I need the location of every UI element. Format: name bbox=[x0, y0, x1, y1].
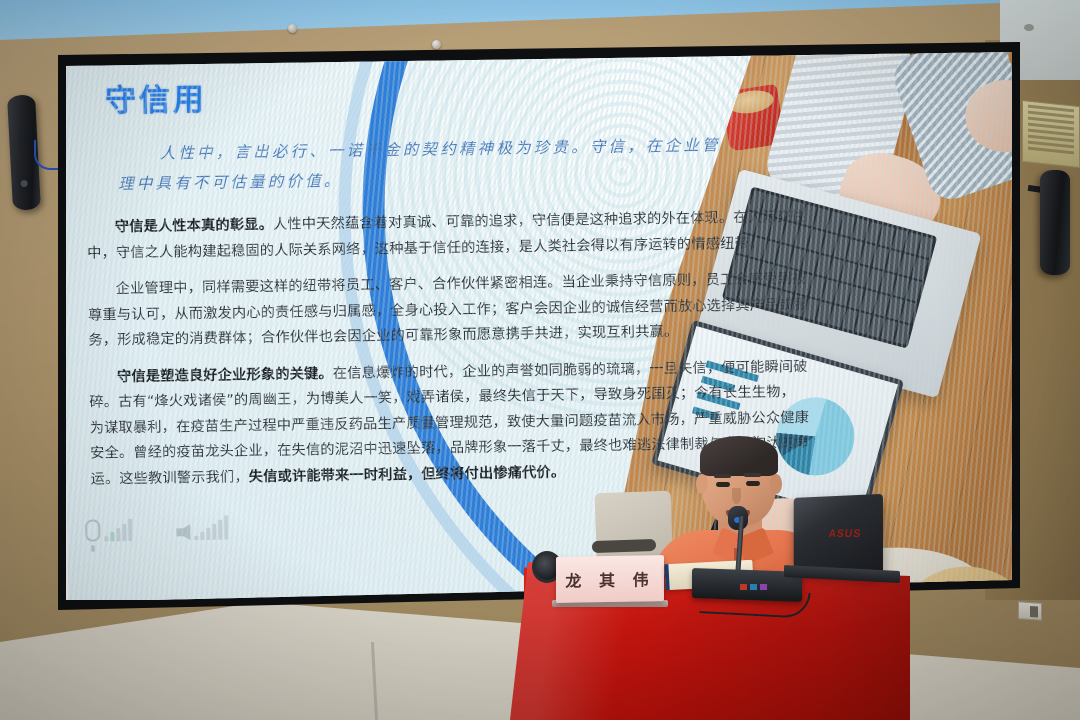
slide-title: 守信用 bbox=[105, 74, 208, 121]
laptop-lid: ASUS bbox=[794, 494, 883, 574]
presenter-ear-right bbox=[770, 474, 782, 494]
nameplate-text: 龙 其 伟 bbox=[565, 566, 654, 592]
presenter-nose bbox=[732, 488, 741, 504]
stud-icon bbox=[288, 24, 297, 33]
speaker-level-group bbox=[176, 516, 228, 541]
slide-paragraph-1: 守信是人性本真的彰显。人性中天然蕴含着对真诚、可靠的追求，守信便是这种追求的外在… bbox=[87, 205, 808, 267]
speaker-icon bbox=[176, 524, 190, 540]
asus-laptop[interactable]: ASUS bbox=[788, 496, 898, 588]
slide-footer-icons bbox=[85, 516, 228, 542]
sound-wave-icon bbox=[194, 516, 228, 541]
paragraph-3-tail: 失信或许能带来一时利益，但终将付出惨痛代价。 bbox=[249, 464, 566, 485]
nameplate: 龙 其 伟 bbox=[556, 555, 664, 603]
signal-bars-icon bbox=[104, 517, 132, 541]
power-outlet-icon bbox=[1018, 601, 1042, 621]
presenter-eyebrow-left bbox=[714, 474, 731, 478]
presentation-room-scene: 守信用 人性中，言出必行、一诺千金的契约精神极为珍贵。守信，在企业管理中具有不可… bbox=[0, 0, 1080, 720]
laptop-brand-logo: ASUS bbox=[828, 528, 862, 540]
paragraph-1-text: 人性中天然蕴含着对真诚、可靠的追求，守信便是这种追求的外在体现。在人际交往中，守… bbox=[87, 209, 805, 261]
presenter-eye-left bbox=[716, 482, 730, 487]
presenter-eye-right bbox=[746, 481, 760, 486]
presenter-ear-left bbox=[696, 474, 708, 494]
wall-speaker-right-icon bbox=[1040, 170, 1070, 275]
slide-paragraph-2: 企业管理中，同样需要这样的纽带将员工、客户、合作伙伴紧密相连。当企业秉持守信原则… bbox=[88, 267, 809, 354]
slide-subtitle: 人性中，言出必行、一诺千金的契约精神极为珍贵。守信，在企业管理中具有不可估量的价… bbox=[117, 130, 730, 199]
presenter-eyebrow-right bbox=[744, 473, 761, 477]
microphone-icon bbox=[85, 519, 100, 541]
paragraph-1-lead: 守信是人性本真的彰显。 bbox=[115, 217, 273, 235]
presenter-hair bbox=[700, 436, 778, 476]
chair-armrest bbox=[592, 539, 656, 553]
paragraph-2-text: 企业管理中，同样需要这样的纽带将员工、客户、合作伙伴紧密相连。当企业秉持守信原则… bbox=[88, 271, 808, 349]
microphone-level-group bbox=[85, 517, 132, 542]
paragraph-3-lead: 守信是塑造良好企业形象的关键。 bbox=[117, 365, 333, 384]
stud-icon bbox=[432, 40, 441, 49]
